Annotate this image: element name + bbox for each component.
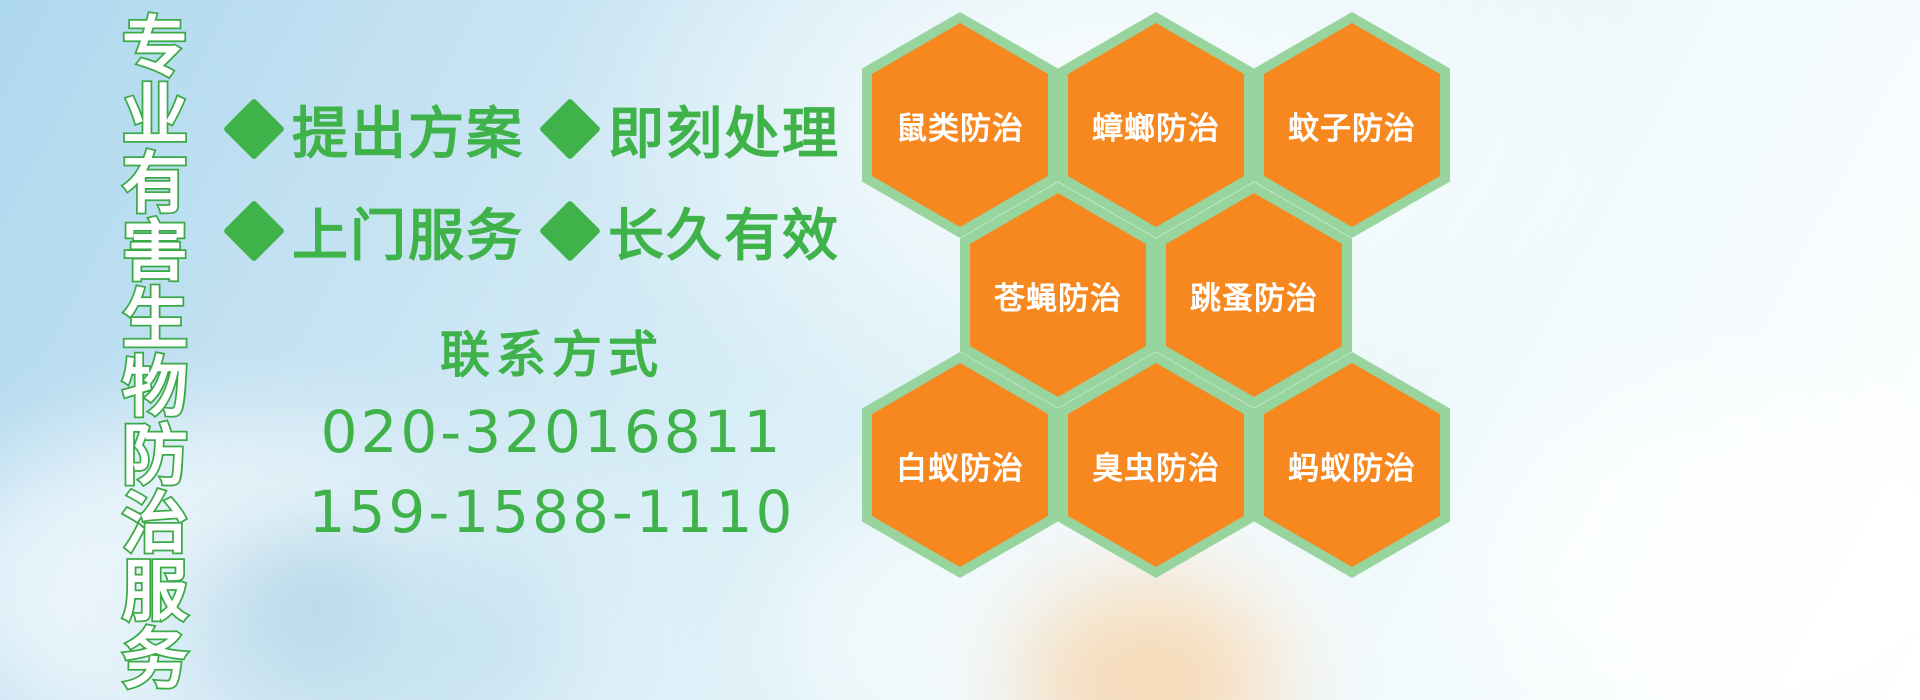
feature-label: 即刻处理 bbox=[608, 89, 840, 170]
pest-control-banner: 专 业 有 害 生 物 防 治 服 务 提出方案 即刻处理 上门服务 bbox=[0, 0, 1920, 700]
background-haze bbox=[1480, 380, 1920, 700]
vertical-headline-char: 有 bbox=[122, 150, 188, 218]
service-label: 鼠类防治 bbox=[896, 103, 1024, 148]
hexagon-inner: 蚂蚁防治 bbox=[1264, 363, 1440, 567]
service-label: 苍蝇防治 bbox=[994, 273, 1122, 318]
diamond-icon bbox=[539, 200, 601, 262]
feature-list: 提出方案 即刻处理 上门服务 长久有效 bbox=[232, 78, 872, 282]
diamond-icon bbox=[223, 98, 285, 160]
contact-block: 联系方式 020-32016811 159-1588-1110 bbox=[232, 318, 872, 552]
feature-row: 提出方案 即刻处理 bbox=[232, 78, 872, 180]
vertical-headline: 专 业 有 害 生 物 防 治 服 务 bbox=[112, 14, 198, 574]
service-label: 白蚁防治 bbox=[896, 443, 1024, 488]
background-haze bbox=[255, 555, 375, 665]
hexagon-inner: 鼠类防治 bbox=[872, 23, 1048, 227]
vertical-headline-char: 害 bbox=[122, 218, 188, 286]
vertical-headline-char: 务 bbox=[122, 626, 188, 694]
vertical-headline-char: 物 bbox=[122, 354, 188, 422]
hexagon-inner: 苍蝇防治 bbox=[970, 193, 1146, 397]
service-label: 蚊子防治 bbox=[1288, 103, 1416, 148]
service-label: 臭虫防治 bbox=[1092, 443, 1220, 488]
feature-row: 上门服务 长久有效 bbox=[232, 180, 872, 282]
phone-number-landline[interactable]: 020-32016811 bbox=[232, 392, 872, 472]
vertical-headline-char: 服 bbox=[122, 558, 188, 626]
contact-heading: 联系方式 bbox=[232, 318, 872, 392]
vertical-headline-char: 防 bbox=[122, 422, 188, 490]
feature-item-propose-plan: 提出方案 bbox=[232, 89, 524, 170]
feature-item-immediate-action: 即刻处理 bbox=[548, 89, 840, 170]
diamond-icon bbox=[223, 200, 285, 262]
hexagon-inner: 蟑螂防治 bbox=[1068, 23, 1244, 227]
service-label: 跳蚤防治 bbox=[1190, 273, 1318, 318]
diamond-icon bbox=[539, 98, 601, 160]
hexagon-inner: 白蚁防治 bbox=[872, 363, 1048, 567]
feature-label: 长久有效 bbox=[608, 191, 840, 272]
vertical-headline-char: 业 bbox=[122, 82, 188, 150]
hexagon-inner: 蚊子防治 bbox=[1264, 23, 1440, 227]
feature-label: 上门服务 bbox=[292, 191, 524, 272]
hexagon-inner: 跳蚤防治 bbox=[1166, 193, 1342, 397]
service-hexagon-cluster: 鼠类防治 蟑螂防治 蚊子防治 苍蝇防治 跳蚤防治 白蚁防治 bbox=[862, 6, 1462, 566]
vertical-headline-char: 专 bbox=[122, 14, 188, 82]
phone-number-mobile[interactable]: 159-1588-1110 bbox=[232, 472, 872, 552]
vertical-headline-char: 治 bbox=[122, 490, 188, 558]
feature-item-onsite-service: 上门服务 bbox=[232, 191, 524, 272]
feature-item-long-lasting: 长久有效 bbox=[548, 191, 840, 272]
service-label: 蟑螂防治 bbox=[1092, 103, 1220, 148]
feature-label: 提出方案 bbox=[292, 89, 524, 170]
vertical-headline-char: 生 bbox=[122, 286, 188, 354]
service-label: 蚂蚁防治 bbox=[1288, 443, 1416, 488]
background-haze bbox=[1020, 580, 1280, 700]
hexagon-inner: 臭虫防治 bbox=[1068, 363, 1244, 567]
